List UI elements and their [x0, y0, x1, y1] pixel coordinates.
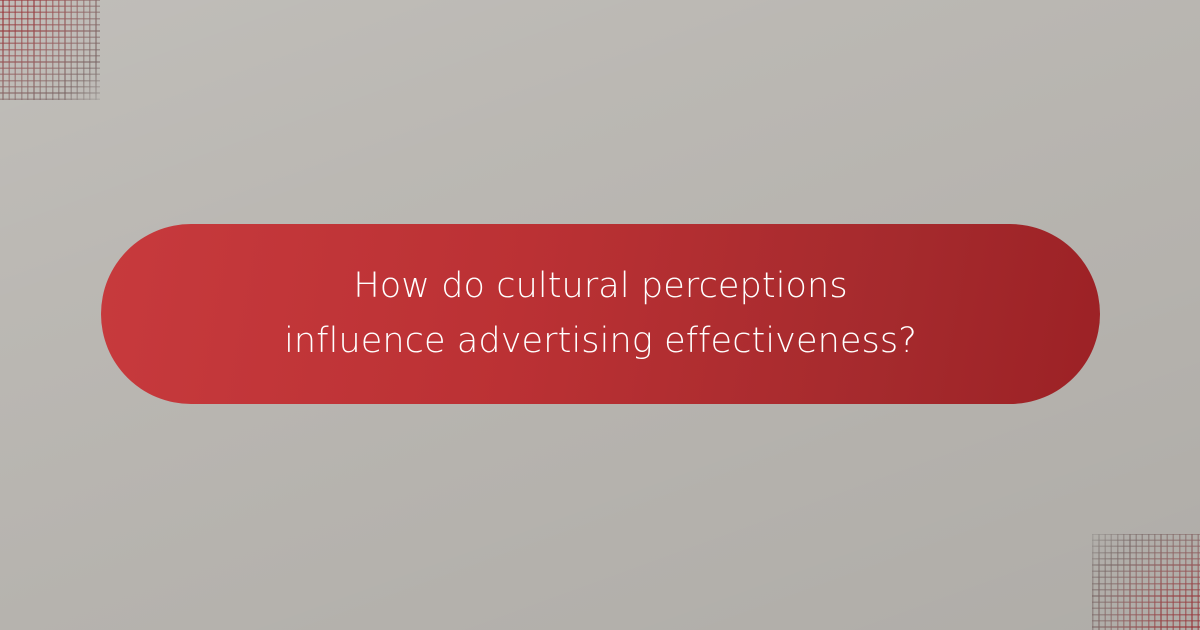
question-banner: How do cultural perceptions influence ad… [101, 224, 1100, 404]
banner-title: How do cultural perceptions influence ad… [271, 259, 931, 369]
dot-grid-decoration-top-left [0, 0, 100, 100]
poster-canvas: How do cultural perceptions influence ad… [0, 0, 1200, 630]
dot-grid-red-layer [0, 0, 100, 100]
dot-grid-decoration-bottom-right [1092, 534, 1200, 630]
dot-grid-red-layer [1092, 534, 1200, 630]
dot-grid-gray-layer [1092, 534, 1200, 630]
dot-grid-gray-layer [0, 0, 100, 100]
